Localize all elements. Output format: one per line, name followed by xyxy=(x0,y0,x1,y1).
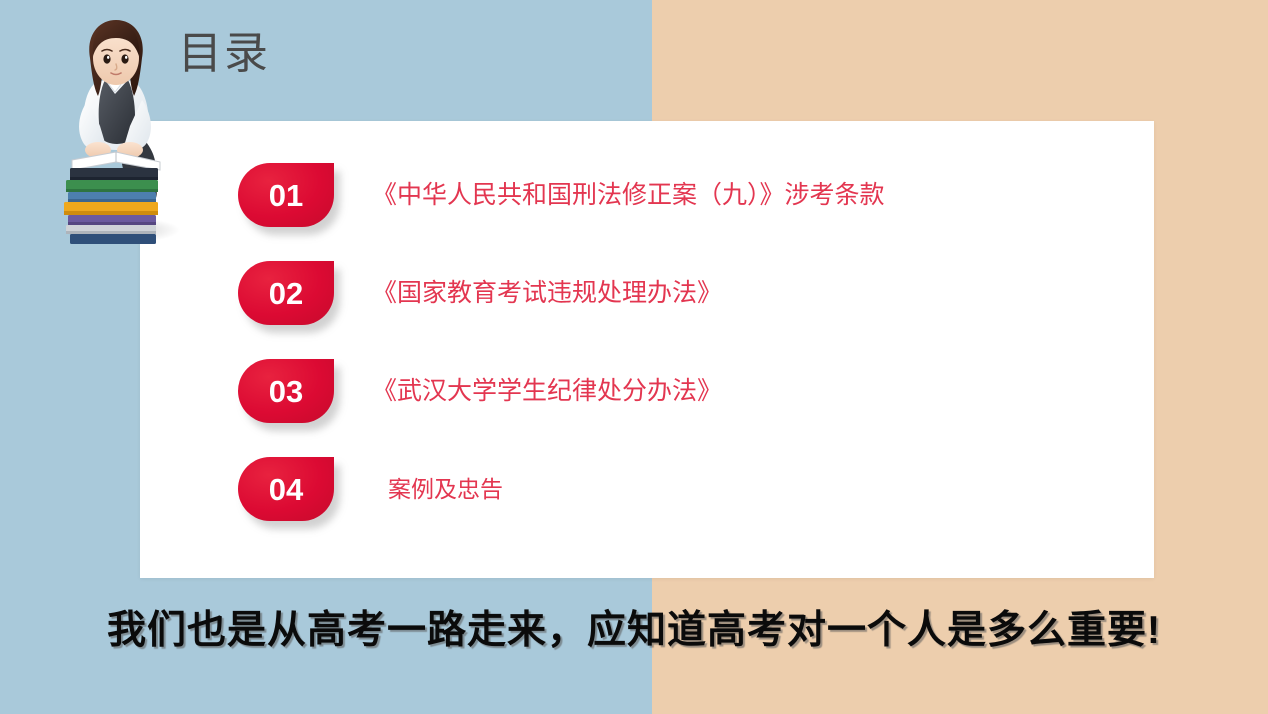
toc-item-01[interactable]: 01 《中华人民共和国刑法修正案（九）》涉考条款 xyxy=(238,163,1138,261)
toc-badge-04: 04 xyxy=(238,457,334,521)
book-1-edge xyxy=(70,177,158,180)
toc-number-label: 01 xyxy=(269,180,303,211)
toc-number-label: 03 xyxy=(269,376,303,407)
toc-item-label: 《武汉大学学生纪律处分办法》 xyxy=(372,373,722,409)
toc-item-04[interactable]: 04 案例及忠告 xyxy=(238,457,1138,555)
toc-badge-02: 02 xyxy=(238,261,334,325)
toc-badge-shape: 01 xyxy=(238,163,334,227)
toc-badge-03: 03 xyxy=(238,359,334,423)
book-6-edge xyxy=(66,231,156,234)
book-3-edge xyxy=(68,199,156,202)
slide-caption: 我们也是从高考一路走来，应知道高考对一个人是多么重要! xyxy=(0,602,1268,660)
illustration-eye-highlight-right xyxy=(125,56,127,59)
book-4-edge xyxy=(64,211,158,215)
illustration-eye-left xyxy=(103,54,110,63)
illustration-eye-right xyxy=(121,54,128,63)
toc-badge-shape: 03 xyxy=(238,359,334,423)
toc-badge-shape: 02 xyxy=(238,261,334,325)
student-girl-illustration xyxy=(42,14,192,246)
toc-list: 01 《中华人民共和国刑法修正案（九）》涉考条款 02 《国家教育考试违规处理办… xyxy=(238,163,1138,555)
toc-item-label: 《中华人民共和国刑法修正案（九）》涉考条款 xyxy=(372,177,885,213)
toc-item-label: 案例及忠告 xyxy=(388,471,503,507)
toc-number-label: 04 xyxy=(269,474,303,505)
book-2-edge xyxy=(66,189,158,192)
toc-number-label: 02 xyxy=(269,278,303,309)
slide-canvas: 目录 xyxy=(0,0,1268,714)
toc-item-label: 《国家教育考试违规处理办法》 xyxy=(372,275,722,311)
illustration-book-stack xyxy=(64,168,158,244)
toc-badge-01: 01 xyxy=(238,163,334,227)
book-7 xyxy=(70,234,156,244)
illustration-eye-highlight-left xyxy=(107,56,109,59)
book-5-edge xyxy=(68,222,156,225)
toc-item-02[interactable]: 02 《国家教育考试违规处理办法》 xyxy=(238,261,1138,359)
toc-item-03[interactable]: 03 《武汉大学学生纪律处分办法》 xyxy=(238,359,1138,457)
toc-badge-shape: 04 xyxy=(238,457,334,521)
